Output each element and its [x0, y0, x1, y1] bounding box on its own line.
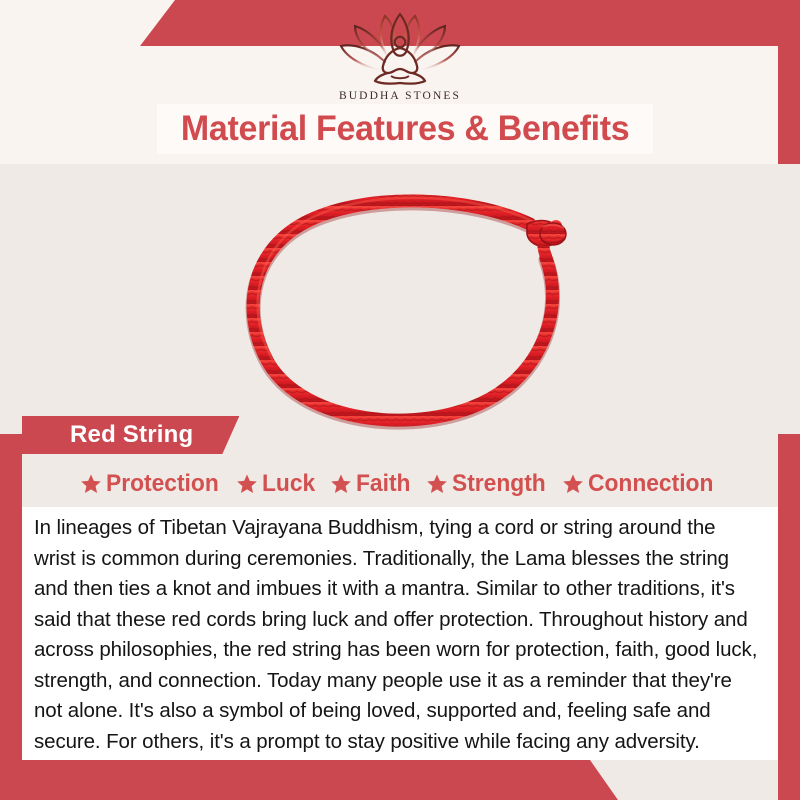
feature-list: Protection Luck Faith Strength Connectio	[22, 462, 778, 506]
material-ribbon: Red String	[22, 416, 239, 454]
feature-item: Faith	[325, 470, 418, 498]
brand-logo: BUDDHA STONES	[0, 10, 800, 102]
description-panel: In lineages of Tibetan Vajrayana Buddhis…	[22, 507, 778, 760]
description-text: In lineages of Tibetan Vajrayana Buddhis…	[34, 513, 762, 757]
page-title: Material Features & Benefits	[181, 109, 629, 149]
feature-item: Connection	[557, 470, 725, 498]
feature-label: Connection	[588, 470, 713, 498]
lotus-meditation-logo-icon	[325, 10, 475, 88]
infographic-page: BUDDHA STONES Material Features & Benefi…	[0, 0, 800, 800]
feature-item: Strength	[421, 470, 556, 498]
star-icon	[562, 473, 584, 495]
product-image	[0, 164, 800, 434]
feature-item: Luck	[231, 470, 323, 498]
feature-label: Protection	[106, 470, 219, 498]
feature-item: Protection	[75, 470, 230, 498]
star-icon	[236, 473, 258, 495]
feature-label: Faith	[356, 470, 410, 498]
star-icon	[80, 473, 102, 495]
star-icon	[330, 473, 352, 495]
material-name: Red String	[70, 421, 193, 449]
red-string-bracelet-illustration	[0, 164, 800, 434]
brand-name: BUDDHA STONES	[0, 90, 800, 102]
feature-label: Luck	[262, 470, 315, 498]
star-icon	[426, 473, 448, 495]
feature-label: Strength	[452, 470, 546, 498]
title-banner: Material Features & Benefits	[157, 104, 653, 154]
